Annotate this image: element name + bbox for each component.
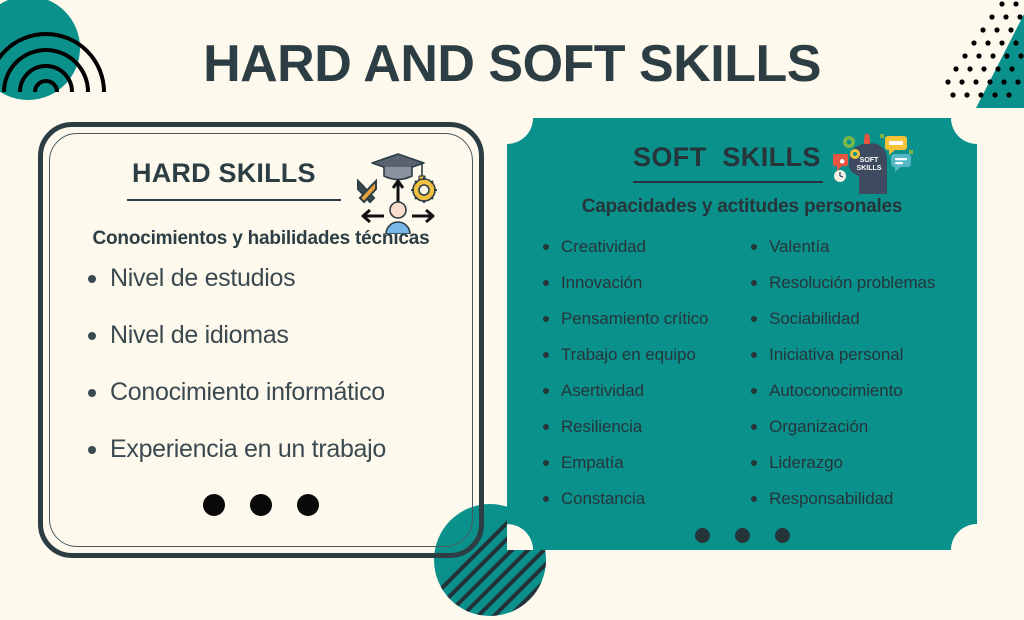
soft-skills-list-left: Creatividad Innovación Pensamiento críti…: [539, 238, 747, 526]
list-item: Resiliencia: [539, 418, 747, 435]
list-item: Empatía: [539, 454, 747, 471]
dot-indicator: [695, 528, 710, 543]
soft-skills-subtitle: Capacidades y actitudes personales: [523, 196, 961, 218]
list-item: Liderazgo: [747, 454, 961, 471]
page-title: HARD AND SOFT SKILLS: [0, 38, 1024, 90]
list-item: Organización: [747, 418, 961, 435]
soft-skills-card: SOFT SKILLS SOFT SKILLS: [507, 118, 977, 550]
soft-skills-list-right: Valentía Resolución problemas Sociabilid…: [747, 238, 961, 526]
soft-heading-row: SOFT SKILLS SOFT SKILLS: [523, 128, 961, 190]
soft-title-underline: [633, 181, 823, 183]
list-item: Iniciativa personal: [747, 346, 961, 363]
soft-icon-label-line1: SOFT: [860, 157, 879, 164]
list-item: Nivel de estudios: [110, 266, 450, 291]
dot-indicator: [203, 494, 225, 516]
dot-indicator: [297, 494, 319, 516]
list-item: Sociabilidad: [747, 310, 961, 327]
graduation-cap-tools-gear-person-icon: [352, 148, 444, 234]
list-item: Experiencia en un trabajo: [110, 437, 450, 462]
cards-container: HARD SKILLS: [0, 118, 1024, 568]
list-item: Constancia: [539, 490, 747, 507]
hard-title-underline: [127, 199, 341, 201]
list-item: Innovación: [539, 274, 747, 291]
list-item: Responsabilidad: [747, 490, 961, 507]
soft-skills-title: SOFT SKILLS: [633, 142, 821, 173]
list-item: Creatividad: [539, 238, 747, 255]
soft-skills-dots: [523, 528, 961, 543]
dot-indicator: [250, 494, 272, 516]
hard-card-body: HARD SKILLS: [54, 136, 468, 544]
soft-skills-columns: Creatividad Innovación Pensamiento críti…: [523, 238, 961, 526]
list-item: Nivel de idiomas: [110, 323, 450, 348]
list-item: Asertividad: [539, 382, 747, 399]
head-soft-skills-bubbles-icon: SOFT SKILLS: [825, 132, 913, 194]
list-item: Trabajo en equipo: [539, 346, 747, 363]
list-item: Autoconocimiento: [747, 382, 961, 399]
list-item: Pensamiento crítico: [539, 310, 747, 327]
list-item: Valentía: [747, 238, 961, 255]
dot-indicator: [735, 528, 750, 543]
hard-skills-list: Nivel de estudios Nivel de idiomas Conoc…: [72, 266, 450, 462]
list-item: Conocimiento informático: [110, 380, 450, 405]
list-item: Resolución problemas: [747, 274, 961, 291]
hard-heading-row: HARD SKILLS: [72, 152, 450, 226]
dot-indicator: [775, 528, 790, 543]
hard-skills-title: HARD SKILLS: [132, 158, 316, 189]
soft-icon-label-line2: SKILLS: [857, 165, 882, 172]
hard-skills-card: HARD SKILLS: [38, 122, 484, 558]
hard-skills-dots: [72, 494, 450, 516]
